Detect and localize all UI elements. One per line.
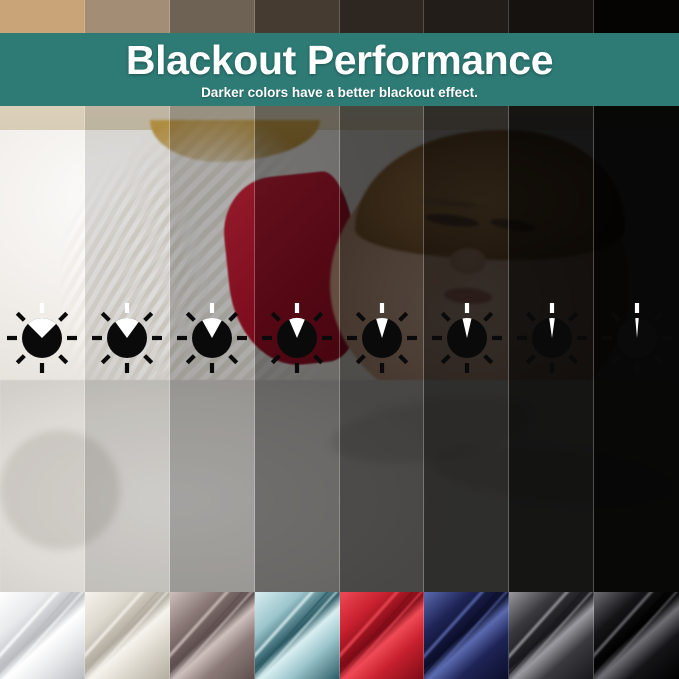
sun-ray <box>18 356 25 363</box>
sun-ray <box>357 356 364 363</box>
swatch-taupe <box>170 592 255 679</box>
swatch-cream <box>85 592 170 679</box>
sun-ray <box>654 356 661 363</box>
brightness-icon-cell-8 <box>594 303 679 373</box>
sun-ray <box>612 356 619 363</box>
sun-ray <box>230 356 237 363</box>
brightness-icon-cell-6 <box>424 303 509 373</box>
top-strip-cell-8 <box>594 0 679 33</box>
sun-ray <box>145 356 152 363</box>
brightness-sun-icon <box>599 300 675 376</box>
page-title: Blackout Performance <box>126 38 553 82</box>
sun-ray <box>187 356 194 363</box>
brightness-sun-icon <box>429 300 505 376</box>
sun-ray <box>187 313 194 320</box>
swatch-navy <box>424 592 509 679</box>
sun-ray <box>442 356 449 363</box>
sun-ray <box>272 356 279 363</box>
sun-ray <box>527 356 534 363</box>
top-strip-cell-3 <box>170 0 255 33</box>
brightness-icon-row <box>0 303 679 373</box>
brightness-icon-cell-5 <box>340 303 425 373</box>
swatch-dark-grey <box>509 592 594 679</box>
fabric-swatch-row <box>0 592 679 679</box>
sun-ray <box>315 313 322 320</box>
top-strip-cell-4 <box>255 0 340 33</box>
sun-ray <box>18 313 25 320</box>
sun-ray <box>484 356 491 363</box>
sun-ray <box>145 313 152 320</box>
brightness-icon-cell-2 <box>85 303 170 373</box>
sun-ray <box>654 313 661 320</box>
sun-ray <box>612 313 619 320</box>
sun-ray <box>527 313 534 320</box>
brightness-icon-cell-7 <box>509 303 594 373</box>
sun-ray <box>357 313 364 320</box>
sun-ray <box>400 313 407 320</box>
brightness-sun-icon <box>344 300 420 376</box>
top-color-strip <box>0 0 679 33</box>
brightness-sun-icon <box>259 300 335 376</box>
page-subtitle: Darker colors have a better blackout eff… <box>201 84 478 102</box>
brightness-icon-cell-1 <box>0 303 85 373</box>
top-strip-cell-6 <box>424 0 509 33</box>
blackout-performance-infographic: Blackout Performance Darker colors have … <box>0 0 679 679</box>
swatch-red <box>340 592 425 679</box>
brightness-sun-icon <box>89 300 165 376</box>
sun-ray <box>60 313 67 320</box>
top-strip-cell-1 <box>0 0 85 33</box>
sun-ray <box>315 356 322 363</box>
brightness-sun-icon <box>4 300 80 376</box>
top-strip-cell-2 <box>85 0 170 33</box>
brightness-icon-cell-3 <box>170 303 255 373</box>
brightness-sun-icon <box>514 300 590 376</box>
sun-ray <box>103 313 110 320</box>
swatch-aqua <box>255 592 340 679</box>
sun-ray <box>400 356 407 363</box>
sun-ray <box>272 313 279 320</box>
sun-ray <box>442 313 449 320</box>
top-strip-cell-7 <box>509 0 594 33</box>
banner: Blackout Performance Darker colors have … <box>0 33 679 106</box>
sun-ray <box>230 313 237 320</box>
brightness-icon-cell-4 <box>255 303 340 373</box>
sun-ray <box>484 313 491 320</box>
sun-ray <box>569 313 576 320</box>
sun-ray <box>103 356 110 363</box>
top-strip-cell-5 <box>340 0 425 33</box>
sun-ray <box>60 356 67 363</box>
swatch-black <box>594 592 679 679</box>
brightness-sun-icon <box>174 300 250 376</box>
sun-ray <box>569 356 576 363</box>
swatch-white <box>0 592 85 679</box>
